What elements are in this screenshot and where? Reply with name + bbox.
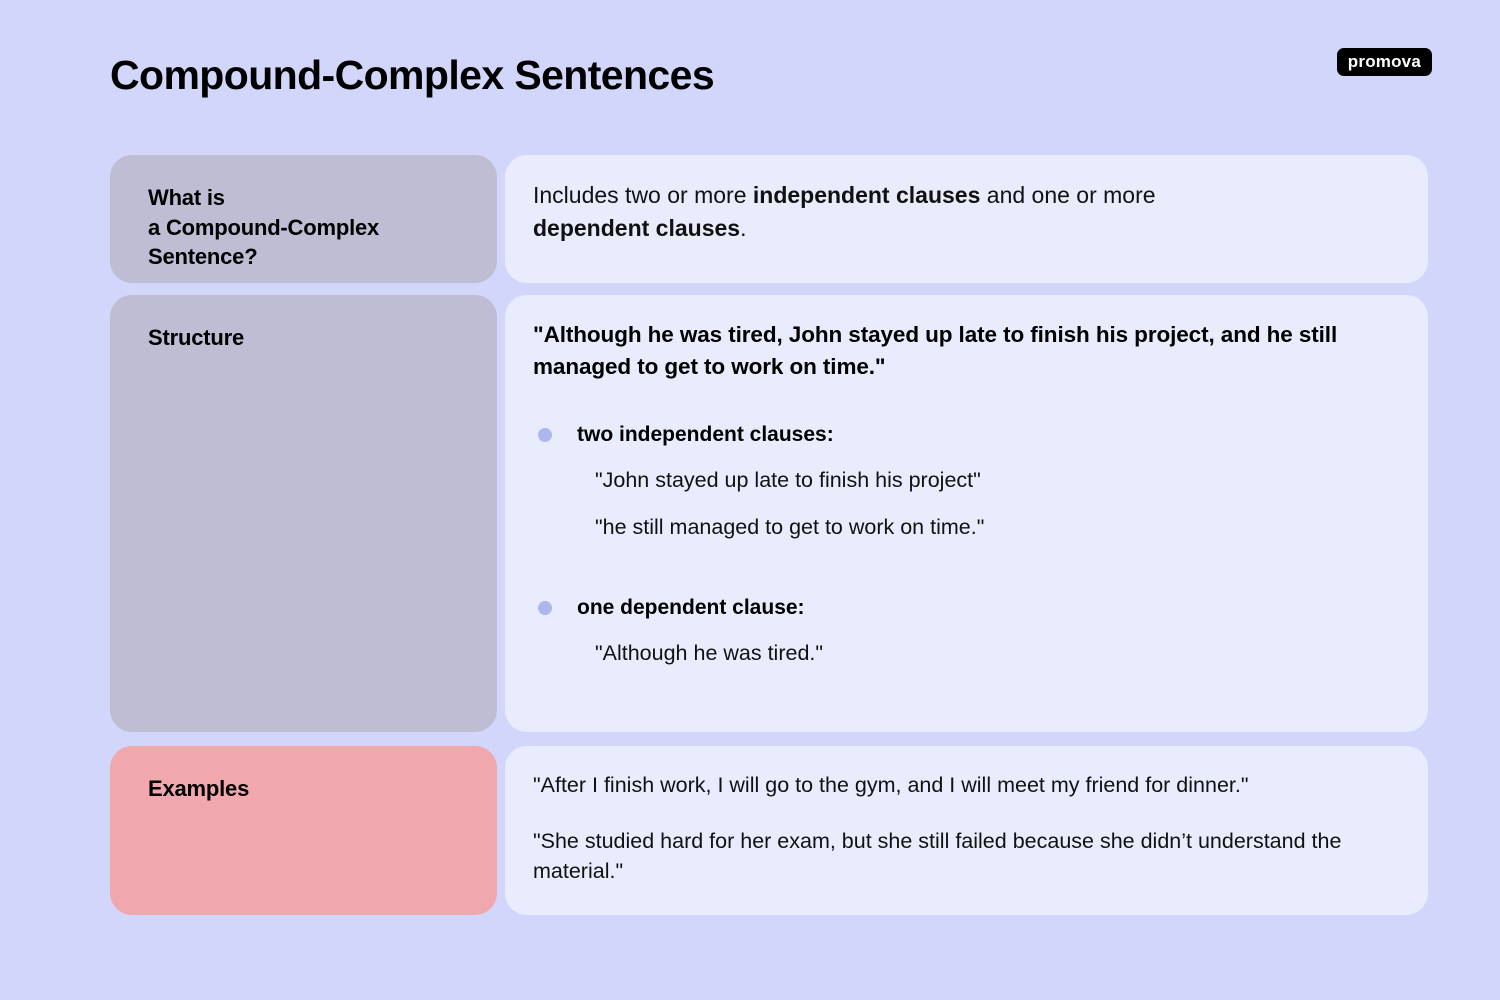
definition-text-part2: and one or more: [980, 182, 1155, 208]
row-examples: Examples "After I finish work, I will go…: [110, 746, 1428, 915]
clause-group-independent: two independent clauses: "John stayed up…: [533, 421, 1398, 542]
clause-item: "John stayed up late to finish his proje…: [533, 467, 1398, 495]
clause-heading-dependent-label: one dependent clause:: [577, 596, 805, 619]
clause-heading-dependent: one dependent clause:: [533, 594, 1398, 621]
clause-heading-independent: two independent clauses:: [533, 421, 1398, 448]
row-definition: What is a Compound-Complex Sentence? Inc…: [110, 155, 1428, 283]
clause-heading-independent-label: two independent clauses:: [577, 423, 834, 446]
promova-logo: promova: [1337, 48, 1432, 76]
structure-example-sentence: "Although he was tired, John stayed up l…: [533, 319, 1398, 383]
example-sentence: "She studied hard for her exam, but she …: [533, 826, 1398, 886]
definition-bold-dependent: dependent clauses: [533, 215, 740, 241]
definition-label-card: What is a Compound-Complex Sentence?: [110, 155, 497, 283]
definition-text: Includes two or more independent clauses…: [533, 179, 1173, 244]
clause-item: "he still managed to get to work on time…: [533, 514, 1398, 542]
structure-content-card: "Although he was tired, John stayed up l…: [505, 295, 1428, 732]
examples-label: Examples: [148, 774, 471, 804]
examples-content-card: "After I finish work, I will go to the g…: [505, 746, 1428, 915]
definition-text-part1: Includes two or more: [533, 182, 753, 208]
definition-bold-independent: independent clauses: [753, 182, 981, 208]
example-sentence: "After I finish work, I will go to the g…: [533, 770, 1398, 800]
definition-text-part3: .: [740, 215, 746, 241]
page-title: Compound-Complex Sentences: [110, 52, 714, 99]
clause-group-dependent: one dependent clause: "Although he was t…: [533, 594, 1398, 668]
bullet-dot-icon: [538, 428, 552, 442]
clause-item: "Although he was tired.": [533, 640, 1398, 668]
definition-label: What is a Compound-Complex Sentence?: [148, 183, 471, 272]
structure-label: Structure: [148, 323, 471, 353]
examples-label-card: Examples: [110, 746, 497, 915]
bullet-dot-icon: [538, 601, 552, 615]
row-structure: Structure "Although he was tired, John s…: [110, 295, 1428, 732]
structure-label-card: Structure: [110, 295, 497, 732]
definition-content-card: Includes two or more independent clauses…: [505, 155, 1428, 283]
